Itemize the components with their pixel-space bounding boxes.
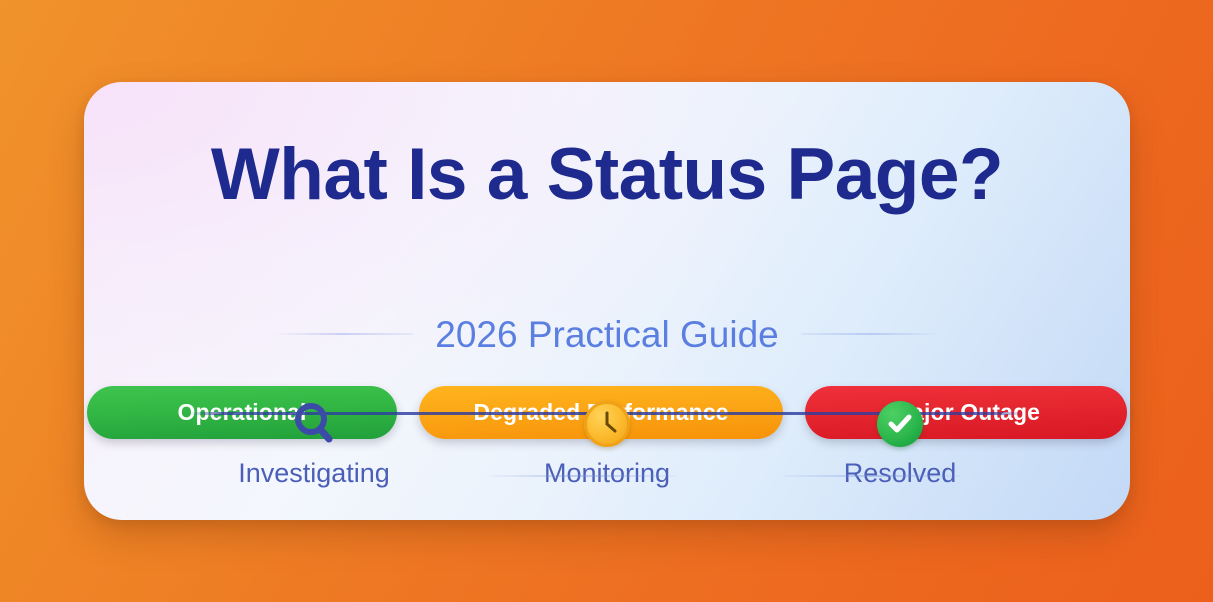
- timeline-step-resolved[interactable]: Resolved: [775, 398, 1025, 487]
- clock-icon: [581, 398, 633, 450]
- timeline-step-investigating[interactable]: Investigating: [189, 398, 439, 487]
- page-subtitle: 2026 Practical Guide: [435, 316, 778, 353]
- timeline-steps: Investigating Monitoring: [189, 398, 1025, 487]
- check-circle-icon: [874, 398, 926, 450]
- incident-timeline: Investigating Monitoring: [189, 398, 1025, 498]
- subtitle-rule-right: [801, 333, 941, 335]
- timeline-step-monitoring[interactable]: Monitoring: [482, 398, 732, 487]
- subtitle-rule-left: [273, 333, 413, 335]
- subtitle-row: 2026 Practical Guide: [84, 310, 1130, 358]
- timeline-connector-1: [489, 475, 677, 477]
- status-page-card: What Is a Status Page? 2026 Practical Gu…: [84, 82, 1130, 520]
- page-title: What Is a Status Page?: [84, 138, 1130, 211]
- timeline-step-label: Monitoring: [544, 460, 670, 487]
- timeline-step-label: Resolved: [844, 460, 957, 487]
- timeline-connector-2: [783, 475, 961, 477]
- poster-canvas: What Is a Status Page? 2026 Practical Gu…: [0, 0, 1213, 602]
- timeline-step-label: Investigating: [238, 460, 390, 487]
- magnifying-glass-icon: [288, 398, 340, 450]
